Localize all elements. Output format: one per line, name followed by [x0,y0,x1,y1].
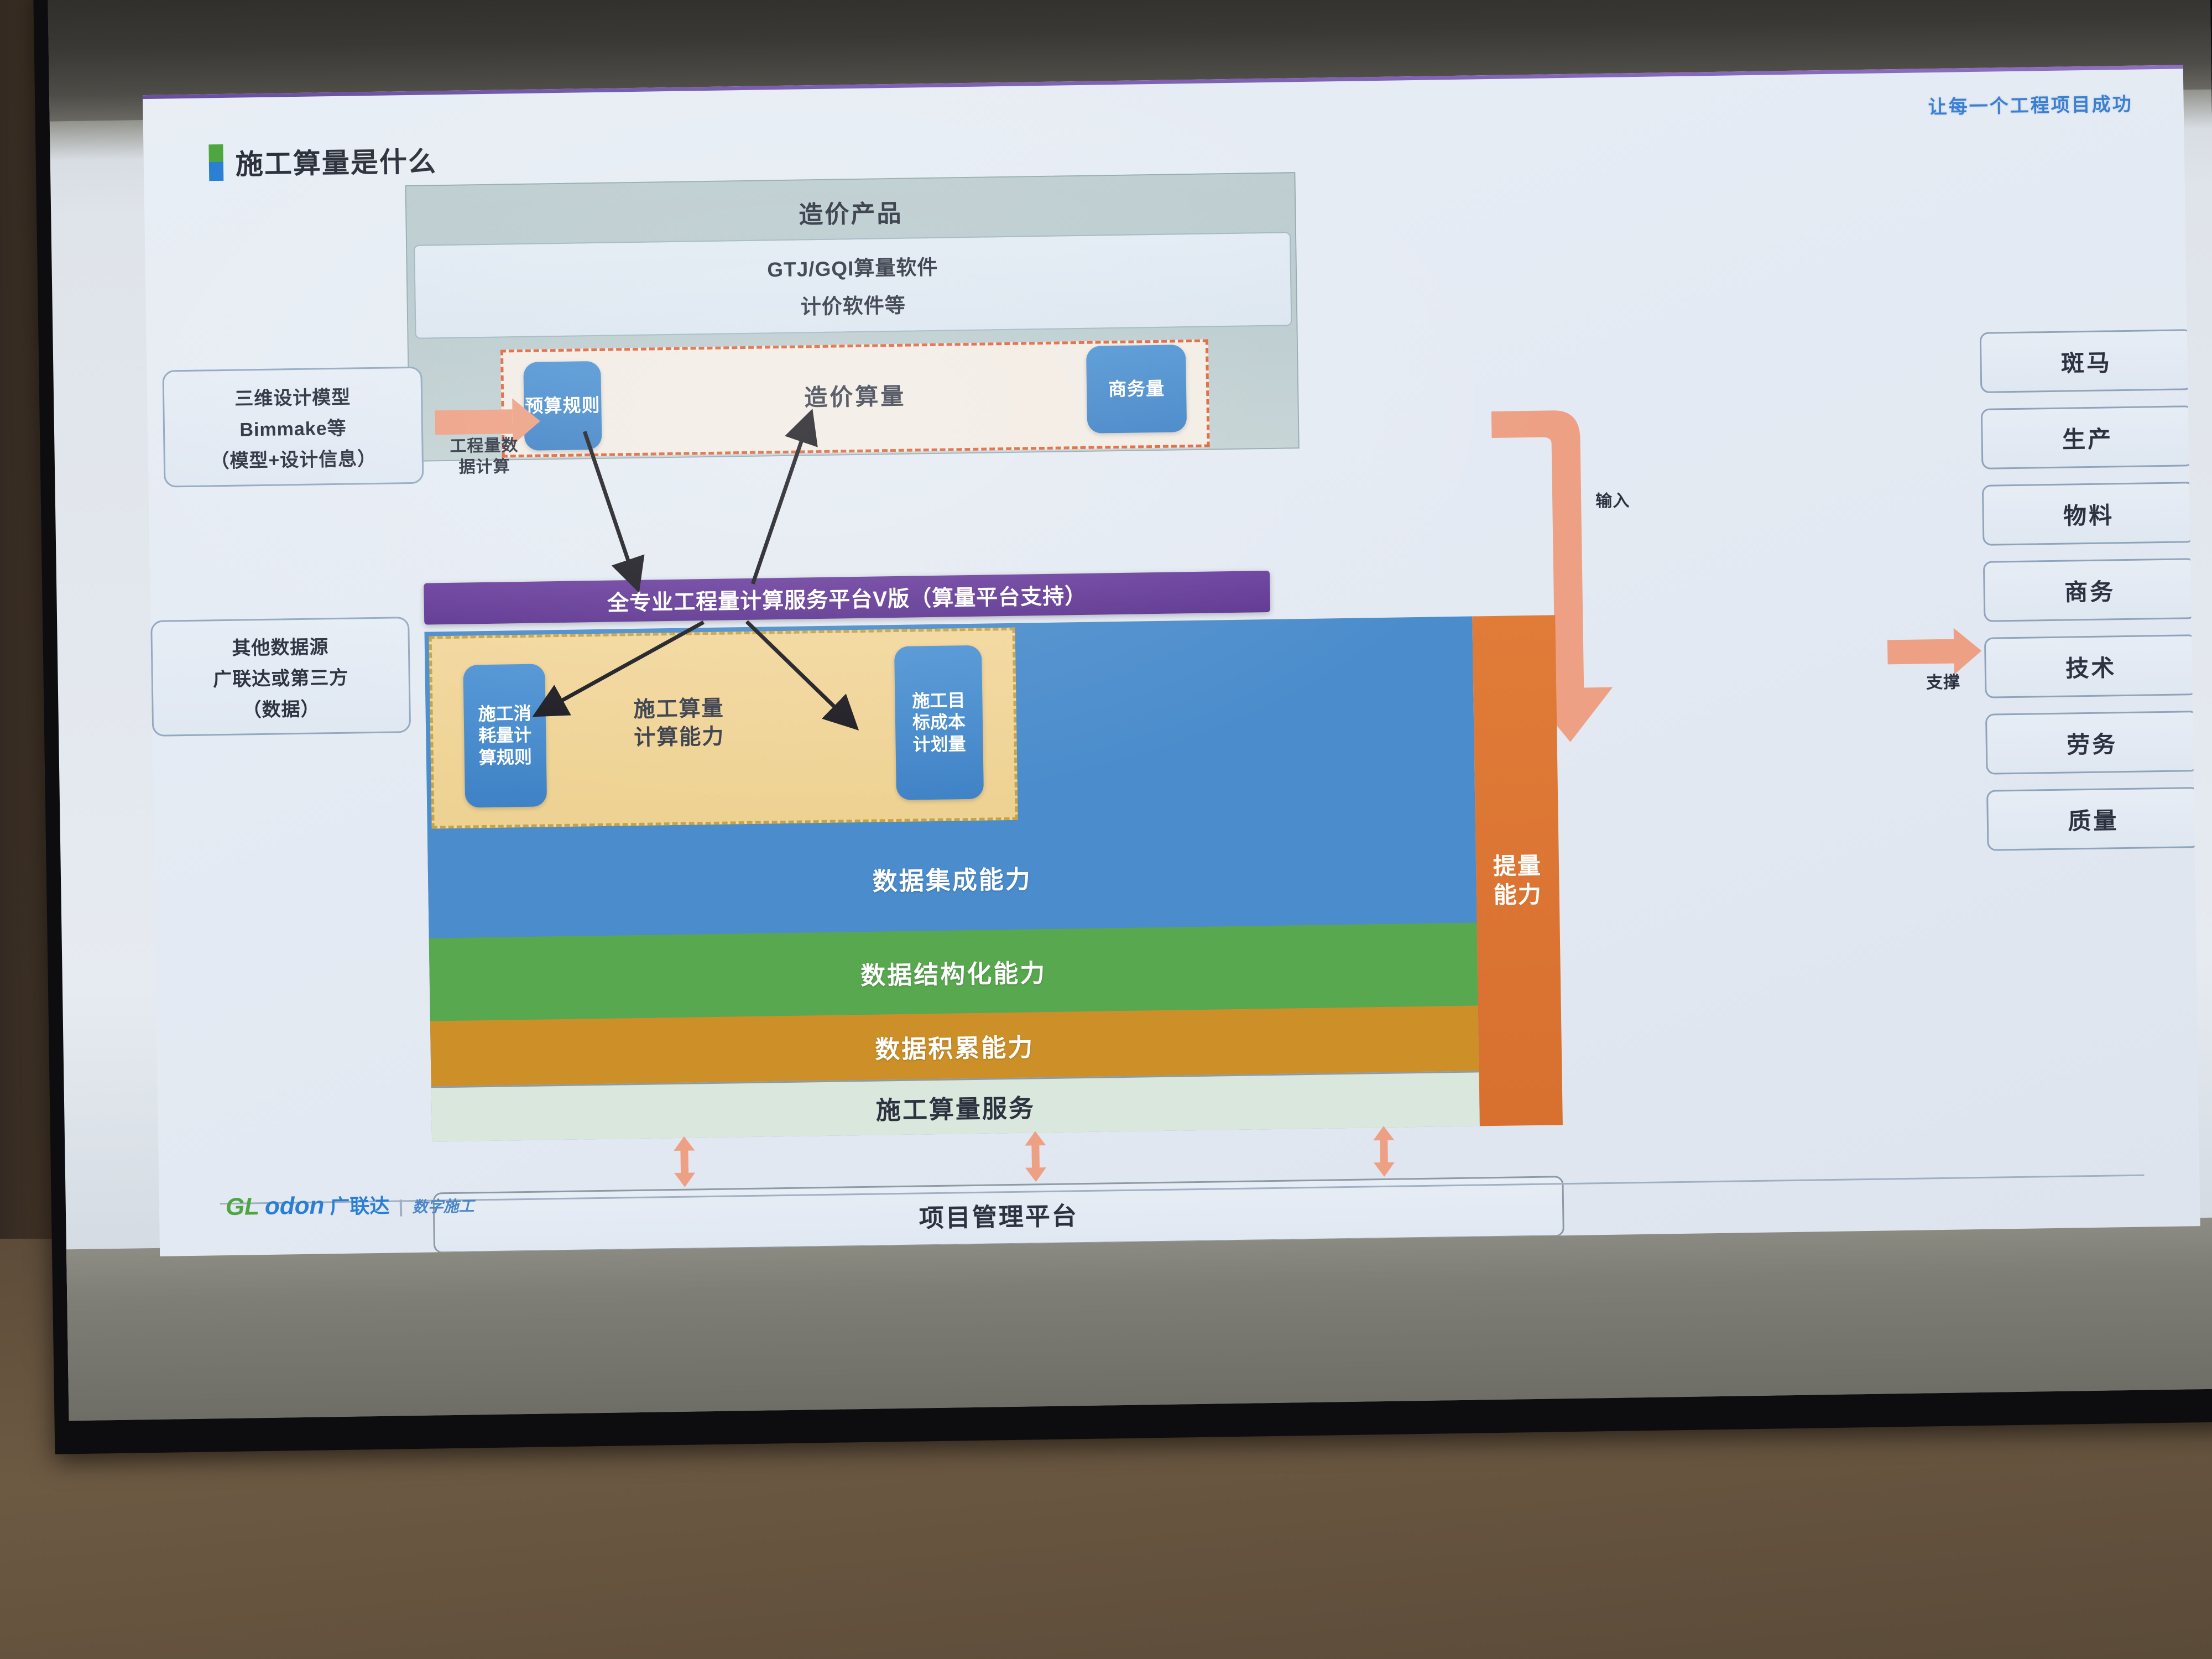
design-model-line-3: （模型+设计信息） [210,443,377,472]
design-model-line-1: 三维设计模型 [234,382,351,410]
logo-separator: | [398,1196,404,1217]
right-item-business[interactable]: 商务 [1983,558,2197,622]
logo-chinese-text: 广联达 [330,1190,390,1220]
capability-stack: 施工算量计算能力 施工消耗量计算规则 施工目标成本计划量 数据集成能力 数据结构… [424,615,1562,1141]
arrow-label-input-top: 输入 [1571,491,1655,513]
right-item-material[interactable]: 物料 [1982,482,2196,546]
page-title-text: 施工算量是什么 [235,139,437,182]
logo-odon-text: odon [265,1192,325,1220]
cost-software-box: GTJ/GQI算量软件 计价软件等 [414,232,1292,339]
page-title: 施工算量是什么 [208,139,437,182]
right-item-production[interactable]: 生产 [1981,405,2195,469]
extraction-capability-label: 提量能力 [1493,851,1543,910]
bidirectional-arrow-icon-3 [1372,1126,1396,1177]
capability-band-data-structuring[interactable]: 数据结构化能力 [429,922,1478,1021]
bidirectional-arrow-icon-1 [672,1136,696,1187]
other-source-line-2: 广联达或第三方 [213,662,349,691]
arrow-label-quantity-calc: 工程量数据计算 [429,435,540,478]
design-model-line-2: Bimmake等 [239,413,347,441]
cost-calculation-dashed-region: 造价算量 预算规则 商务量 [500,340,1210,458]
presentation-slide: 让每一个工程项目成功 施工算量是什么 造价产品 GTJ/GQI算量软件 计价软件… [143,65,2200,1256]
right-item-zebra[interactable]: 斑马 [1980,329,2194,393]
input-box-design-model[interactable]: 三维设计模型 Bimmake等 （模型+设计信息） [162,367,424,488]
arrow-right-icon-support [1887,628,1982,676]
slide-tagline: 让每一个工程项目成功 [1928,89,2133,119]
arrow-label-support: 支撑 [1893,672,1994,694]
right-item-labor[interactable]: 劳务 [1985,711,2199,775]
cost-software-line-2: 计价软件等 [800,289,906,320]
room-background: 让每一个工程项目成功 施工算量是什么 造价产品 GTJ/GQI算量软件 计价软件… [0,0,2212,1659]
cost-product-title: 造价产品 [406,187,1295,236]
right-module-column: 斑马 生产 物料 商务 技术 劳务 质量 [1980,329,2200,867]
card-business-volume[interactable]: 商务量 [1086,345,1187,434]
other-source-line-3: （数据） [242,693,320,722]
construction-calc-box: 施工算量计算能力 施工消耗量计算规则 施工目标成本计划量 [429,628,1018,829]
arrow-shaft [435,409,513,435]
arrow-head [1954,628,1982,675]
card-target-cost[interactable]: 施工目标成本计划量 [894,645,984,800]
title-marker-icon [208,144,223,181]
glodon-logo: GL odon 广联达 | 数字施工 [225,1188,474,1221]
right-item-quality[interactable]: 质量 [1986,787,2200,851]
right-item-technology[interactable]: 技术 [1984,634,2198,698]
bidirectional-arrow-icon-2 [1024,1131,1047,1182]
extraction-capability-column[interactable]: 提量能力 [1472,615,1563,1126]
cost-software-line-1: GTJ/GQI算量软件 [767,251,938,283]
platform-banner[interactable]: 全专业工程量计算服务平台V版（算量平台支持） [424,571,1270,625]
arrow-shaft [1887,639,1954,665]
logo-gl-text: GL [225,1193,259,1221]
card-consume-rule[interactable]: 施工消耗量计算规则 [463,664,547,807]
logo-subtitle: 数字施工 [412,1194,474,1217]
input-box-other-source[interactable]: 其他数据源 广联达或第三方 （数据） [150,617,411,737]
projection-screen-assembly: 让每一个工程项目成功 施工算量是什么 造价产品 GTJ/GQI算量软件 计价软件… [33,0,2212,1488]
construction-calc-label: 施工算量计算能力 [598,694,759,753]
capability-band-data-integration[interactable]: 数据集成能力 [427,817,1477,938]
other-source-line-1: 其他数据源 [232,632,329,660]
